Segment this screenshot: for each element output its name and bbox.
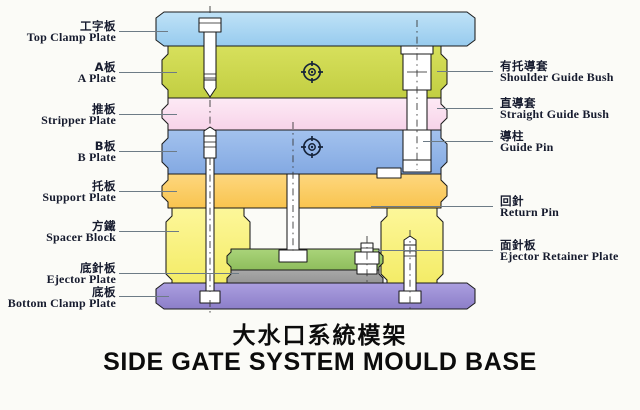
label-b-plate: B板 B Plate [78,140,116,164]
leader-a-plate [119,72,177,73]
label-stripper-plate-en: Stripper Plate [41,114,116,127]
label-a-plate: A板 A Plate [78,61,116,85]
leader-return-pin [371,206,493,207]
label-b-plate-en: B Plate [78,151,116,164]
label-top-clamp-plate-en: Top Clamp Plate [27,31,116,44]
label-guide-pin-en: Guide Pin [500,141,553,154]
leader-bottom-clamp-plate [119,296,169,297]
label-straight-guide-bush: 直導套 Straight Guide Bush [500,97,609,121]
plate-support-plate [162,174,447,208]
label-return-pin-en: Return Pin [500,206,559,219]
leader-stripper-plate [119,114,177,115]
shoulder-guide-bush [401,46,433,54]
leader-b-plate [119,151,177,152]
label-bottom-clamp-plate-en: Bottom Clamp Plate [8,297,116,310]
label-return-pin: 回針 Return Pin [500,195,559,219]
plate-stripper-plate [162,98,447,130]
label-a-plate-en: A Plate [78,72,116,85]
leader-support-plate [119,191,177,192]
guide-pin-foot [403,160,431,172]
leader-top-clamp-plate [119,31,168,32]
label-straight-guide-bush-en: Straight Guide Bush [500,108,609,121]
leader-ejector-retainer-plate [378,250,493,251]
leader-guide-pin [423,141,493,142]
label-ejector-retainer-plate-en: Ejector Retainer Plate [500,250,619,263]
diagram-title-english: SIDE GATE SYSTEM MOULD BASE [0,348,640,377]
cap-screw-b-plate-left [377,168,401,178]
label-ejector-plate: 底針板 Ejector Plate [47,262,116,286]
label-spacer-block: 方鐵 Spacer Block [46,220,116,244]
label-bottom-clamp-plate: 底板 Bottom Clamp Plate [8,286,116,310]
label-support-plate: 托板 Support Plate [42,180,116,204]
label-support-plate-en: Support Plate [42,191,116,204]
leader-straight-guide-bush [437,108,493,109]
label-stripper-plate: 推板 Stripper Plate [41,103,116,127]
label-top-clamp-plate: 工字板 Top Clamp Plate [27,20,116,44]
leader-spacer-block [119,231,179,232]
label-spacer-block-en: Spacer Block [46,231,116,244]
leader-ejector-plate [119,273,239,274]
label-ejector-retainer-plate: 面針板 Ejector Retainer Plate [500,239,619,263]
label-shoulder-guide-bush-en: Shoulder Guide Bush [500,71,614,84]
diagram-title-chinese: 大水口系統模架 [0,316,640,350]
label-guide-pin: 導柱 Guide Pin [500,130,553,154]
leader-shoulder-guide-bush [437,71,493,72]
label-shoulder-guide-bush: 有托導套 Shoulder Guide Bush [500,60,614,84]
mould-base-diagram-page: 工字板 Top Clamp Plate A板 A Plate 推板 Stripp… [0,0,640,410]
